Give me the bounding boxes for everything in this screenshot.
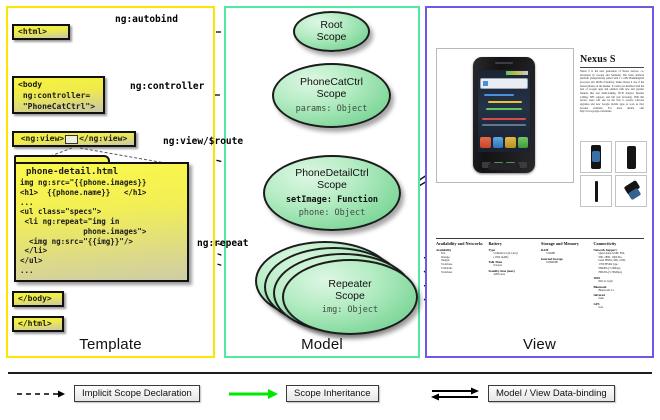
- legend-item-data-binding: Model / View Data-binding: [430, 385, 615, 402]
- spec-header-0: Availability and Networks: [436, 241, 487, 246]
- tag-ngview: <ng:view> </ng:view>: [12, 131, 136, 147]
- phone-screen: [478, 70, 530, 152]
- legend-dashed-arrow-icon: [16, 387, 66, 401]
- spec-val-2-1-0: 16384MB: [541, 261, 592, 265]
- panel-label-model: Model: [224, 336, 420, 353]
- scope-root: RootScope: [293, 11, 370, 52]
- thumbnail-0-screen: [592, 151, 600, 162]
- legend-label-data-binding: Model / View Data-binding: [488, 385, 615, 402]
- partial-template-card: phone-detail.html img ng:src="{{phone.im…: [14, 162, 189, 282]
- product-description: Nexus S is the next generation of Nexus …: [580, 70, 644, 114]
- connector-label-ng-repeat: ng:repeat: [197, 238, 248, 249]
- ngview-slot-icon: [65, 135, 78, 144]
- legend-double-arrow-icon: [430, 387, 480, 401]
- tag-html-close: </html>: [12, 316, 64, 332]
- phone-wallpaper-line-4: [482, 118, 526, 120]
- tag-html-open-text: <html>: [18, 27, 47, 38]
- scope-repeater: RepeaterScope img: Object: [282, 259, 418, 335]
- spec-val-3-1-0: 802.11 b/g/n: [594, 280, 645, 284]
- spec-column-1: Battery Type Lithium Ion (Li-Ion) (1500 …: [489, 241, 540, 328]
- partial-code: img ng:src="{{phone.images}} <h1> {{phon…: [16, 178, 187, 276]
- spec-header-2: Storage and Memory: [541, 241, 592, 246]
- connector-label-ng-autobind: ng:autobind: [115, 14, 178, 25]
- scope-phonecatctrl-prop-0: params: Object: [296, 104, 368, 114]
- phone-app-icon-2: [493, 137, 504, 148]
- phone-wallpaper-line-1: [484, 94, 514, 96]
- spec-header-1: Battery: [489, 241, 540, 246]
- thumbnail-1[interactable]: [615, 141, 647, 173]
- tag-body-close-text: </body>: [18, 294, 52, 305]
- scope-repeater-prop-0: img: Object: [322, 305, 378, 315]
- product-title-rule: [580, 67, 644, 68]
- legend-green-arrow-icon: [228, 387, 278, 401]
- thumbnail-1-phone-back: [627, 146, 636, 169]
- spec-val-3-0-5: HSUPA (5.76Mbps): [594, 271, 645, 275]
- scope-phonedetailctrl-prop-1: phone: Object: [299, 208, 366, 218]
- legend-label-implicit-scope: Implicit Scope Declaration: [74, 385, 200, 402]
- phone-device-illustration: [473, 57, 535, 173]
- scope-repeater-name: RepeaterScope: [328, 279, 371, 303]
- connector-label-ng-view-route: ng:view/$route: [163, 136, 243, 147]
- spec-column-2: Storage and Memory RAM 512MB Internal St…: [541, 241, 592, 328]
- tag-ngview-open-text: <ng:view>: [21, 134, 64, 145]
- product-title: Nexus S: [580, 54, 616, 65]
- thumbnail-2[interactable]: [580, 175, 612, 207]
- phone-wallpaper-line-3: [486, 108, 522, 110]
- phone-statusbar: [506, 71, 528, 75]
- phone-app-icon-3: [505, 137, 516, 148]
- phone-wallpaper-line-5: [482, 124, 526, 126]
- spec-val-2-0-0: 512MB: [541, 252, 592, 256]
- panel-label-template: Template: [6, 336, 215, 353]
- phone-app-dock: [480, 137, 528, 150]
- thumbnail-3[interactable]: [615, 175, 647, 207]
- legend-item-implicit-scope: Implicit Scope Declaration: [16, 385, 200, 402]
- scope-phonecatctrl-name: PhoneCatCtrlScope: [300, 77, 363, 101]
- scope-phonecatctrl: PhoneCatCtrlScope params: Object: [272, 63, 391, 128]
- phone-speaker: [495, 62, 513, 64]
- spec-val-1-2-0: 428 hours: [489, 273, 540, 277]
- thumbnail-2-phone-edge: [595, 181, 598, 202]
- tag-html-open: <html>: [12, 24, 70, 40]
- spec-column-0: Availability and Networks Availability M…: [436, 241, 487, 328]
- spec-table: Availability and Networks Availability M…: [436, 238, 644, 328]
- spec-val-1-1-0: 6 hours: [489, 264, 540, 268]
- scope-root-name: RootScope: [317, 20, 347, 44]
- scope-phonedetailctrl: PhoneDetailCtrlScope setImage: Function …: [263, 155, 401, 231]
- scope-phonedetailctrl-prop-0: setImage: Function: [286, 195, 378, 205]
- phone-wallpaper-line-2: [488, 101, 522, 103]
- legend-divider: [8, 372, 652, 374]
- tag-html-close-text: </html>: [18, 319, 52, 330]
- phone-search-widget: [480, 78, 528, 89]
- tag-body-close: </body>: [12, 291, 64, 307]
- phone-app-icon-1: [480, 137, 491, 148]
- spec-column-3: Connectivity Network Support Quad-band G…: [594, 241, 645, 328]
- phone-app-icon-4: [518, 137, 529, 148]
- partial-filename: phone-detail.html: [16, 164, 187, 178]
- legend-label-scope-inheritance: Scope Inheritance: [286, 385, 379, 402]
- spec-header-3: Connectivity: [594, 241, 645, 246]
- tag-ngview-close-text: </ng:view>: [79, 134, 127, 145]
- panel-label-view: View: [425, 336, 654, 353]
- scope-phonedetailctrl-name: PhoneDetailCtrlScope: [295, 168, 369, 192]
- view-rendered-page: Nexus S Nexus S is the next generation o…: [432, 12, 647, 330]
- spec-val-1-0-1: (1500 mAH): [489, 256, 540, 260]
- legend-item-scope-inheritance: Scope Inheritance: [228, 385, 379, 402]
- phone-hero-image-frame: [436, 48, 574, 183]
- spec-val-0-0-5: Vodafone: [436, 271, 487, 275]
- spec-val-3-4-0: true: [594, 306, 645, 310]
- spec-val-3-3-0: false: [594, 297, 645, 301]
- spec-val-3-2-0: Bluetooth 2.1: [594, 289, 645, 293]
- phone-bottom-bezel: [488, 163, 520, 170]
- thumbnail-0[interactable]: [580, 141, 612, 173]
- tag-body-open: <body ng:controller= "PhoneCatCtrl">: [12, 76, 105, 114]
- connector-label-ng-controller: ng:controller: [130, 81, 204, 92]
